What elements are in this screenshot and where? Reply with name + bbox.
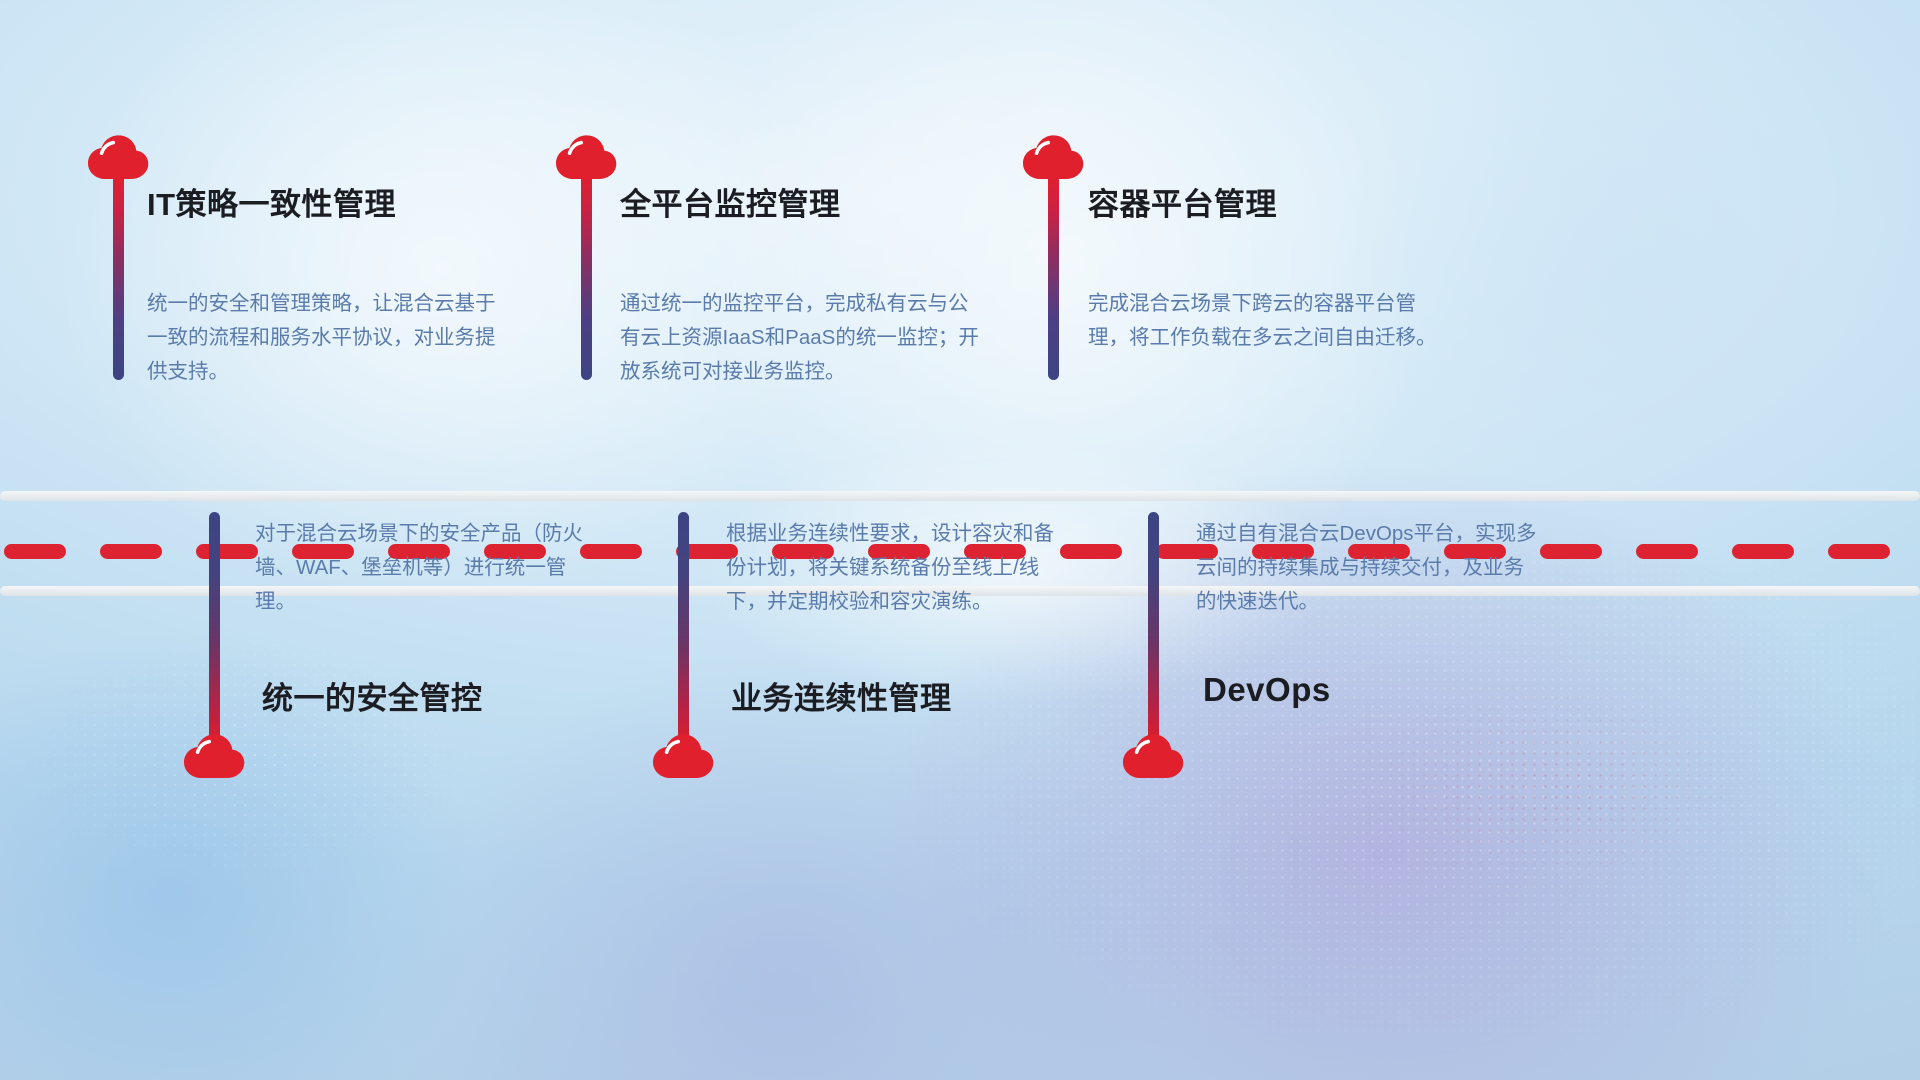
road-dash <box>1636 544 1698 559</box>
road-line-top <box>0 491 1920 501</box>
pillar-body: 根据业务连续性要求，设计容灾和备份计划，将关键系统备份至线上/线下，并定期校验和… <box>726 517 1074 619</box>
road-dash <box>1828 544 1890 559</box>
road-dash <box>100 544 162 559</box>
road-dash <box>1540 544 1602 559</box>
road-dash <box>1732 544 1794 559</box>
pillar-heading: 全平台监控管理 <box>620 179 841 224</box>
pillar-heading: DevOps <box>1203 671 1331 709</box>
road-dash <box>4 544 66 559</box>
pillar-stem <box>209 512 220 740</box>
pillar-stem <box>678 512 689 740</box>
pillar-heading: IT策略一致性管理 <box>147 179 396 224</box>
pillar-heading: 业务连续性管理 <box>731 673 952 718</box>
pillar-heading: 容器平台管理 <box>1088 179 1277 224</box>
pillar-stem <box>113 172 124 380</box>
pillar-body: 统一的安全和管理策略，让混合云基于一致的流程和服务水平协议，对业务提供支持。 <box>147 287 499 389</box>
pillar-stem <box>581 172 592 380</box>
pillar-heading: 统一的安全管控 <box>262 673 483 718</box>
pillar-body: 完成混合云场景下跨云的容器平台管理，将工作负载在多云之间自由迁移。 <box>1088 287 1440 355</box>
cloud-icon <box>1120 732 1186 780</box>
pillar-stem <box>1048 172 1059 380</box>
pillar-body: 通过统一的监控平台，完成私有云与公有云上资源IaaS和PaaS的统一监控；开放系… <box>620 287 986 389</box>
pillar-body: 对于混合云场景下的安全产品（防火墙、WAF、堡垒机等）进行统一管理。 <box>255 517 603 619</box>
pillar-stem <box>1148 512 1159 740</box>
cloud-icon <box>650 732 716 780</box>
road-dash <box>196 544 258 559</box>
infographic-canvas: IT策略一致性管理 统一的安全和管理策略，让混合云基于一致的流程和服务水平协议，… <box>0 0 1920 1080</box>
cloud-icon <box>181 732 247 780</box>
pillar-body: 通过自有混合云DevOps平台，实现多云间的持续集成与持续交付，及业务的快速迭代… <box>1196 517 1544 619</box>
